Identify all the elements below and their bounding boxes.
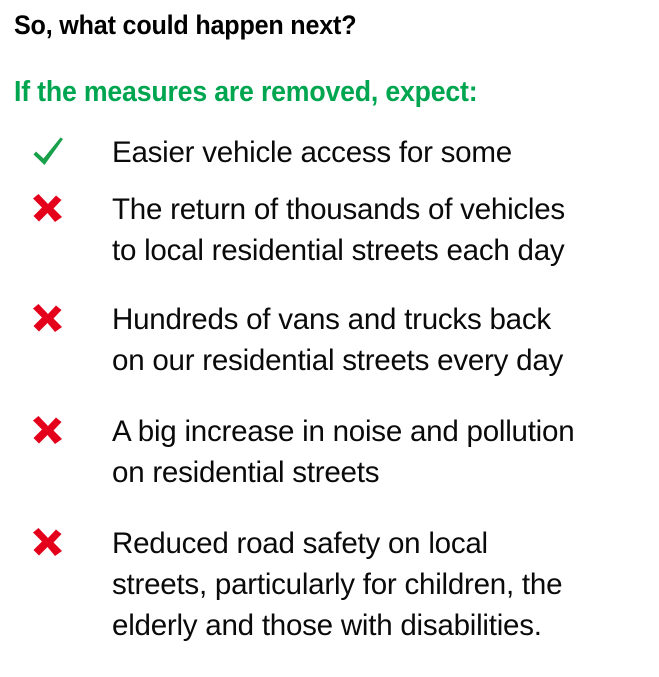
list-item-text: A big increase in noise and pollution on… [112, 411, 651, 493]
outcome-bullet-list: Easier vehicle access for some The retur… [0, 132, 659, 646]
cross-icon [28, 523, 68, 563]
list-item: Reduced road safety on local streets, pa… [0, 523, 659, 646]
list-item-line: Hundreds of vans and trucks back [112, 299, 645, 340]
list-item: The return of thousands of vehicles to l… [0, 189, 659, 271]
list-item-text: The return of thousands of vehicles to l… [112, 189, 651, 271]
page-subtitle: If the measures are removed, expect: [14, 74, 603, 110]
bullet-icon-cell [0, 411, 112, 451]
spacer [0, 173, 659, 189]
bullet-icon-cell [0, 523, 112, 563]
list-item-text: Reduced road safety on local streets, pa… [112, 523, 651, 646]
list-item: Easier vehicle access for some [0, 132, 659, 173]
list-item-line: to local residential streets each day [112, 230, 645, 271]
list-item-line: Easier vehicle access for some [112, 132, 645, 173]
list-item: A big increase in noise and pollution on… [0, 411, 659, 493]
list-item-line: on residential streets [112, 452, 645, 493]
bullet-icon-cell [0, 189, 112, 229]
slide-canvas: So, what could happen next? If the measu… [0, 0, 659, 677]
cross-icon [28, 411, 68, 451]
list-item-line: elderly and those with disabilities. [112, 605, 645, 646]
bullet-icon-cell [0, 132, 112, 172]
list-item-line: Reduced road safety on local [112, 523, 645, 564]
list-item-line: on our residential streets every day [112, 340, 645, 381]
spacer [0, 271, 659, 299]
cross-icon [28, 299, 68, 339]
page-title: So, what could happen next? [14, 8, 600, 42]
list-item-text: Hundreds of vans and trucks back on our … [112, 299, 651, 381]
list-item: Hundreds of vans and trucks back on our … [0, 299, 659, 381]
cross-icon [28, 189, 68, 229]
list-item-text: Easier vehicle access for some [112, 132, 651, 173]
spacer [0, 381, 659, 411]
spacer [0, 493, 659, 523]
list-item-line: The return of thousands of vehicles [112, 189, 645, 230]
bullet-icon-cell [0, 299, 112, 339]
check-icon [28, 132, 68, 172]
list-item-line: streets, particularly for children, the [112, 564, 645, 605]
list-item-line: A big increase in noise and pollution [112, 411, 645, 452]
